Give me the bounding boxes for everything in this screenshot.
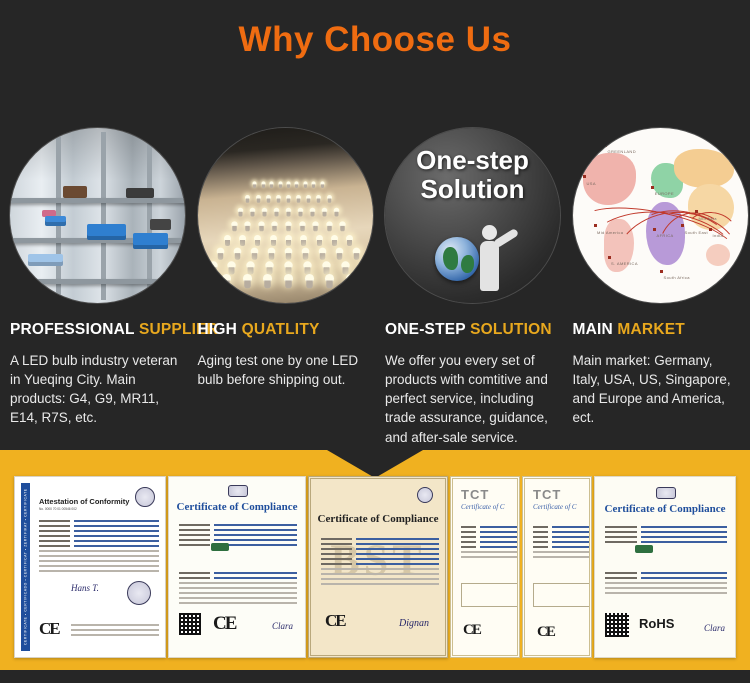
led-bulb	[270, 235, 277, 242]
led-bulb	[263, 274, 272, 283]
map-label: South Africa	[664, 275, 690, 280]
certificate-title: Certificate of C	[461, 503, 505, 511]
map-label: India	[713, 233, 724, 238]
feature-high-quality: HIGH QUATLITY Aging test one by one LED …	[188, 128, 376, 447]
feature-body: Main market: Germany, Italy, USA, US, Si…	[573, 351, 741, 428]
trade-mark-logo-icon	[635, 545, 653, 553]
tuv-seal-icon	[135, 487, 155, 507]
led-bulb	[270, 182, 274, 186]
features-row: PROFESSIONAL SUPPLIER A LED bulb industr…	[0, 128, 750, 447]
led-bulb	[336, 248, 344, 256]
certificates-row: CERTIFICATE • CERTIFICADO • CERTIFICAT •…	[0, 476, 750, 658]
feature-heading-accent: SOLUTION	[470, 321, 552, 338]
certificate-sidebar: CERTIFICATE • CERTIFICADO • CERTIFICAT •…	[21, 483, 30, 651]
world-market-map: GREENLANDUSAMid AmericaS. AMERICAEUROPEA…	[573, 128, 748, 303]
ce-mark-icon: CE	[213, 613, 235, 635]
led-bulb	[276, 195, 281, 200]
led-bulb	[239, 235, 246, 242]
led-bulb	[256, 195, 261, 200]
led-bulb	[286, 195, 291, 200]
led-bulb	[333, 208, 339, 214]
feature-heading-main: HIGH	[198, 321, 238, 338]
certificate-title: Certificate of Compliance	[169, 501, 305, 513]
certificate-title: Certificate of Compliance	[595, 503, 735, 515]
certificate-of-compliance-rohs[interactable]: Certificate of Compliance RoHS Clara	[594, 476, 736, 658]
led-bulb	[295, 182, 299, 186]
feature-image-wrap	[10, 128, 185, 303]
led-bulb	[286, 208, 292, 214]
signature: Hans T.	[71, 583, 99, 593]
map-node-dot	[695, 210, 698, 213]
led-bulb	[286, 182, 290, 186]
led-bulb	[322, 261, 330, 269]
led-bulb	[250, 248, 258, 256]
tct-certificates-pair: TCT Certificate of C CE TCT Cer	[450, 476, 592, 658]
map-node-dot	[651, 186, 654, 189]
led-bulb	[299, 221, 305, 227]
tct-logo: TCT	[533, 487, 561, 502]
led-bulb	[320, 182, 324, 186]
led-bulb	[274, 208, 280, 214]
led-bulb	[326, 221, 332, 227]
tuv-round-seal-icon	[127, 581, 151, 605]
led-bulb	[233, 248, 241, 256]
led-bulb	[305, 274, 314, 283]
ce-mark-icon: CE	[325, 611, 345, 631]
led-bulb	[319, 248, 327, 256]
led-bulb	[285, 221, 291, 227]
feature-heading: MAIN MARKET	[573, 321, 741, 339]
rohs-mark-icon: RoHS	[639, 616, 674, 631]
certificate-of-compliance-emc[interactable]: Certificate of Compliance CE Cl	[168, 476, 306, 658]
led-bulb	[360, 261, 368, 269]
feature-image-wrap: GREENLANDUSAMid AmericaS. AMERICAEUROPEA…	[573, 128, 748, 303]
qr-code-icon	[179, 613, 201, 635]
led-bulb	[327, 195, 332, 200]
led-bulb	[303, 182, 307, 186]
certificate-body-rows	[533, 523, 589, 561]
certificate-body-rows	[39, 517, 159, 575]
led-bulb	[341, 261, 349, 269]
led-bulb	[303, 261, 311, 269]
ce-mark-icon: CE	[39, 619, 59, 639]
certificate-title: Certificate of C	[533, 503, 577, 511]
map-label: Mid Asia	[699, 216, 717, 221]
bottom-strip	[0, 670, 750, 683]
led-bulb	[284, 261, 292, 269]
led-bulb	[316, 195, 321, 200]
led-bulb	[316, 235, 323, 242]
feature-main-market: GREENLANDUSAMid AmericaS. AMERICAEUROPEA…	[563, 128, 750, 447]
led-bulb	[265, 261, 273, 269]
page-title: Why Choose Us	[0, 20, 750, 60]
feature-heading-accent: MARKET	[617, 321, 685, 338]
certificates-band: CERTIFICATE • CERTIFICADO • CERTIFICAT •…	[0, 450, 750, 670]
led-bulb	[202, 274, 211, 283]
certificate-title: Certificate of Compliance	[311, 513, 445, 525]
one-step-solution-graphic: One-step Solution	[385, 128, 560, 303]
results-table	[461, 583, 519, 607]
led-bulb	[296, 195, 301, 200]
map-node-dot	[583, 175, 586, 178]
map-node-dot	[594, 224, 597, 227]
feature-image-wrap	[198, 128, 373, 303]
led-bulb	[302, 248, 310, 256]
ce-mark-icon: CE	[463, 622, 480, 639]
certificate-attestation-of-conformity[interactable]: CERTIFICATE • CERTIFICADO • CERTIFICAT •…	[14, 476, 166, 658]
led-bulb	[366, 274, 372, 283]
map-label: Mid America	[597, 230, 623, 235]
led-bulb	[325, 274, 334, 283]
feature-heading-accent: QUATLITY	[242, 321, 320, 338]
feature-heading: HIGH QUATLITY	[198, 321, 366, 339]
feature-body: Aging test one by one LED bulb before sh…	[198, 351, 366, 389]
led-bulb	[258, 221, 264, 227]
led-bulb	[254, 235, 261, 242]
led-bulb	[321, 208, 327, 214]
led-bulb	[253, 182, 257, 186]
certificate-body-rows	[605, 523, 727, 546]
trade-mark-logo-icon	[211, 543, 229, 551]
map-label: USA	[587, 181, 596, 186]
aging-test-bulbs-photo	[198, 128, 373, 303]
feature-heading: PROFESSIONAL SUPPLIER	[10, 321, 178, 339]
feature-heading-main: PROFESSIONAL	[10, 321, 134, 338]
feature-heading: ONE-STEP SOLUTION	[385, 321, 553, 339]
solution-overlay-text: One-step Solution	[385, 146, 560, 204]
feature-heading-main: MAIN	[573, 321, 613, 338]
feature-image-wrap: One-step Solution	[385, 128, 560, 303]
map-label: S. AMERICA	[611, 261, 638, 266]
map-label: GREENLAND	[608, 149, 637, 154]
led-bulb	[261, 182, 265, 186]
certificate-subtitle: No. 0000 70 01 00546 002	[39, 507, 77, 511]
led-bulb	[353, 248, 361, 256]
certification-seal-icon	[417, 487, 433, 503]
certification-logo-icon	[656, 487, 676, 499]
led-bulb	[216, 248, 224, 256]
led-bulb	[209, 261, 217, 269]
certificate-title: Attestation of Conformity	[39, 497, 129, 506]
signature: Dignan	[399, 618, 429, 629]
solution-line-2: Solution	[385, 175, 560, 204]
led-bulb	[243, 274, 252, 283]
tct-certificate-left[interactable]: TCT Certificate of C CE	[450, 476, 520, 658]
ce-mark-icon: CE	[537, 624, 554, 641]
certificate-of-compliance-bst[interactable]: BST Certificate of Compliance CE Dignan	[308, 476, 448, 658]
led-bulb	[331, 235, 338, 242]
led-bulb	[278, 182, 282, 186]
feature-professional-supplier: PROFESSIONAL SUPPLIER A LED bulb industr…	[0, 128, 188, 447]
tct-logo: TCT	[461, 487, 489, 502]
certificate-sidebar-text: CERTIFICATE • CERTIFICADO • CERTIFICAT •…	[21, 483, 30, 651]
led-bulb	[285, 248, 293, 256]
map-node-dot	[660, 270, 663, 273]
factory-workshop-photo	[10, 128, 185, 303]
feature-body: A LED bulb industry veteran in Yueqing C…	[10, 351, 178, 428]
chevron-down-notch	[327, 450, 423, 478]
led-bulb	[262, 208, 268, 214]
map-node-dot	[653, 228, 656, 231]
certificate-body-rows	[321, 535, 439, 588]
results-table	[533, 583, 591, 607]
led-bulb	[306, 195, 311, 200]
map-node-dot	[709, 228, 712, 231]
led-bulb	[346, 274, 355, 283]
led-bulb	[244, 221, 250, 227]
led-bulb	[224, 235, 231, 242]
qr-code-icon	[605, 613, 629, 637]
led-bulb	[228, 261, 236, 269]
map-node-dot	[681, 224, 684, 227]
feature-one-step-solution: One-step Solution ONE-STEP SOLUTION	[375, 128, 563, 447]
person-icon	[471, 225, 511, 291]
map-label: South East	[685, 230, 709, 235]
certificate-body-rows	[461, 523, 517, 561]
solution-line-1: One-step	[385, 146, 560, 175]
why-choose-us-banner: Why Choose Us	[0, 0, 750, 683]
signature: Clara	[704, 623, 725, 633]
led-bulb	[231, 221, 237, 227]
certification-logo-icon	[228, 485, 248, 497]
led-bulb	[250, 208, 256, 214]
map-label: AFRICA	[657, 233, 674, 238]
map-node-dot	[608, 256, 611, 259]
led-bulb	[284, 274, 293, 283]
feature-heading-main: ONE-STEP	[385, 321, 466, 338]
map-node-dot	[604, 144, 607, 147]
led-bulb	[238, 208, 244, 214]
led-bulb	[340, 221, 346, 227]
led-bulb	[313, 221, 319, 227]
led-bulb	[266, 195, 271, 200]
led-bulb	[312, 182, 316, 186]
led-bulb	[245, 195, 250, 200]
led-bulb	[268, 248, 276, 256]
led-bulb	[298, 208, 304, 214]
led-bulb	[300, 235, 307, 242]
tct-certificate-right[interactable]: TCT Certificate of C CE	[522, 476, 592, 658]
feature-body: We offer you every set of products with …	[385, 351, 553, 447]
led-bulb	[309, 208, 315, 214]
led-bulb	[222, 274, 231, 283]
certificate-body-rows	[179, 521, 297, 549]
led-bulb	[285, 235, 292, 242]
map-label: EUROPE	[655, 191, 674, 196]
led-bulb	[346, 235, 353, 242]
led-bulb	[247, 261, 255, 269]
signature: Clara	[272, 621, 293, 631]
led-bulb	[272, 221, 278, 227]
